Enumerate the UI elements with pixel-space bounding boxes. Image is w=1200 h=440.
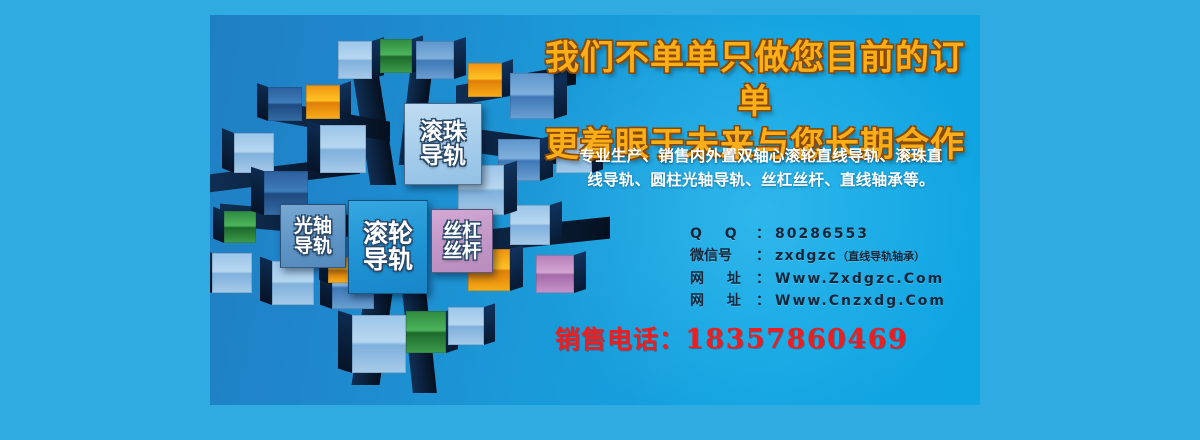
cube-side — [257, 83, 268, 121]
site1-value[interactable]: Www.Zxdgzc.Com — [775, 268, 944, 290]
cube-face — [352, 315, 406, 373]
cube-side — [251, 167, 264, 215]
contact-row-website-2: 网 址 ： Www.Cnzxdg.Com — [690, 290, 980, 312]
product-label-sigang-sigan[interactable]: 丝杠 丝杆 — [431, 209, 493, 273]
decor-cube — [416, 41, 454, 79]
decor-cube — [306, 85, 340, 119]
cube-face — [224, 211, 256, 243]
banner-content: 我们不单单只做您目前的订单 更着眼于未来与您长期合作 专业生产、销售内外置双轴心… — [540, 15, 980, 405]
cube-face — [380, 39, 412, 73]
cube-side — [307, 121, 320, 173]
wechat-label: 微信号 — [690, 245, 756, 267]
site2-value[interactable]: Www.Cnzxdg.Com — [775, 290, 946, 312]
contact-row-wechat: 微信号 ： zxdgzc （直线导轨轴承） — [690, 245, 980, 267]
cube-face — [448, 307, 484, 345]
decor-cube — [448, 307, 484, 345]
cube-side — [454, 37, 466, 79]
cube-side — [260, 257, 272, 305]
decor-cube — [320, 125, 366, 173]
cube-side — [222, 128, 234, 173]
cube-side — [340, 81, 351, 119]
decor-cube — [212, 253, 252, 293]
cube-face — [416, 41, 454, 79]
cube-side — [338, 310, 352, 373]
colon: ： — [756, 268, 770, 290]
decor-cube — [380, 39, 412, 73]
decor-cube — [224, 211, 256, 243]
description-text: 专业生产、销售内外置双轴心滚轮直线导轨、滚珠直线导轨、圆柱光轴导轨、丝杠丝杆、直… — [576, 145, 946, 192]
banner-panel: 滚珠 导轨 光轴 导轨 滚轮 导轨 丝杠 丝杆 我们不单单只做您目前的订单 更着… — [210, 15, 980, 405]
cube-face — [468, 63, 502, 97]
qq-value[interactable]: 80286553 — [775, 223, 869, 245]
cube-face — [406, 311, 446, 353]
site1-label: 网 址 — [690, 268, 756, 290]
cube-face — [338, 41, 372, 79]
colon: ： — [756, 245, 770, 267]
decor-cube — [406, 311, 446, 353]
cube-face — [306, 85, 340, 119]
decor-cube — [338, 41, 372, 79]
cube-face — [320, 125, 366, 173]
contact-row-qq: Q Q ： 80286553 — [690, 223, 980, 245]
site2-label: 网 址 — [690, 290, 756, 312]
product-label-gunlun-daogui[interactable]: 滚轮 导轨 — [348, 200, 428, 294]
colon: ： — [756, 290, 770, 312]
sales-phone-block[interactable]: 销售电话：18357860469 — [555, 320, 975, 356]
product-label-gunzhu-daogui[interactable]: 滚珠 导轨 — [404, 103, 482, 185]
cube-side — [504, 161, 517, 215]
colon: ： — [756, 223, 770, 245]
decor-cube — [352, 315, 406, 373]
cube-face — [212, 253, 252, 293]
sales-phone-number[interactable]: 18357860469 — [685, 324, 908, 355]
cube-side — [213, 207, 224, 243]
decor-cube — [468, 63, 502, 97]
contact-block: Q Q ： 80286553 微信号 ： zxdgzc （直线导轨轴承） 网 址… — [690, 223, 980, 313]
contact-row-website-1: 网 址 ： Www.Zxdgzc.Com — [690, 268, 980, 290]
promo-banner: 滚珠 导轨 光轴 导轨 滚轮 导轨 丝杠 丝杆 我们不单单只做您目前的订单 更着… — [0, 0, 1200, 440]
sales-phone-label: 销售电话： — [555, 325, 685, 354]
qq-label: Q Q — [690, 223, 756, 245]
cube-side — [510, 245, 523, 291]
decor-cube — [268, 87, 302, 121]
cube-side — [484, 303, 495, 345]
cube-face — [268, 87, 302, 121]
product-label-guangzhou-daogui[interactable]: 光轴 导轨 — [280, 204, 346, 268]
wechat-note: （直线导轨轴承） — [837, 248, 925, 266]
wechat-value[interactable]: zxdgzc — [775, 245, 837, 267]
